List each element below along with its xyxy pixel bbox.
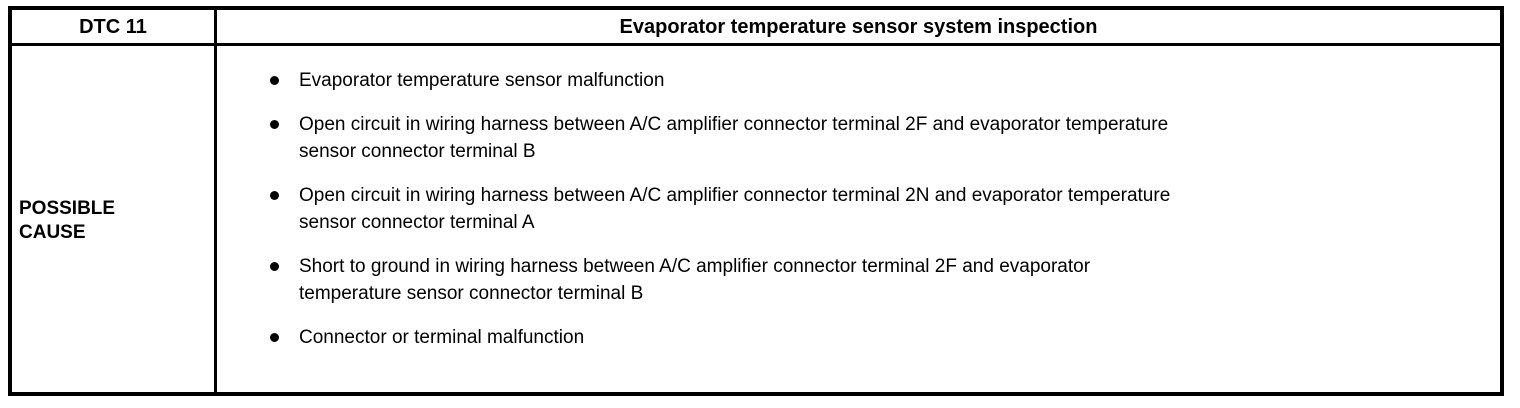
- list-item: Open circuit in wiring harness between A…: [269, 182, 1484, 236]
- list-item-text: Evaporator temperature sensor malfunctio…: [299, 67, 1484, 94]
- table-header-row: DTC 11 Evaporator temperature sensor sys…: [12, 10, 1500, 46]
- list-item-text: Open circuit in wiring harness between A…: [299, 182, 1484, 236]
- dtc-code-label: DTC 11: [79, 16, 147, 38]
- inspection-title-label: Evaporator temperature sensor system ins…: [620, 16, 1098, 38]
- list-item: Connector or terminal malfunction: [269, 324, 1484, 351]
- inspection-title-cell: Evaporator temperature sensor system ins…: [217, 10, 1500, 43]
- possible-cause-label: POSSIBLE CAUSE: [19, 197, 115, 245]
- list-item-text: Connector or terminal malfunction: [299, 324, 1484, 351]
- bullet-icon: [270, 120, 279, 129]
- list-item: Evaporator temperature sensor malfunctio…: [269, 67, 1484, 94]
- dtc-table: DTC 11 Evaporator temperature sensor sys…: [8, 6, 1504, 396]
- possible-cause-label-cell: POSSIBLE CAUSE: [12, 46, 217, 393]
- bullet-icon: [270, 333, 279, 342]
- list-item: Short to ground in wiring harness betwee…: [269, 253, 1484, 307]
- dtc-code-cell: DTC 11: [12, 10, 217, 43]
- bullet-icon: [270, 262, 279, 271]
- list-item-text: Short to ground in wiring harness betwee…: [299, 253, 1484, 307]
- table-body-row: POSSIBLE CAUSE Evaporator temperature se…: [12, 46, 1500, 393]
- document-page: DTC 11 Evaporator temperature sensor sys…: [0, 0, 1520, 408]
- possible-cause-content-cell: Evaporator temperature sensor malfunctio…: [217, 46, 1500, 393]
- bullet-icon: [270, 76, 279, 85]
- bullet-icon: [270, 191, 279, 200]
- list-item: Open circuit in wiring harness between A…: [269, 111, 1484, 165]
- list-item-text: Open circuit in wiring harness between A…: [299, 111, 1484, 165]
- possible-cause-list: Evaporator temperature sensor malfunctio…: [269, 67, 1484, 351]
